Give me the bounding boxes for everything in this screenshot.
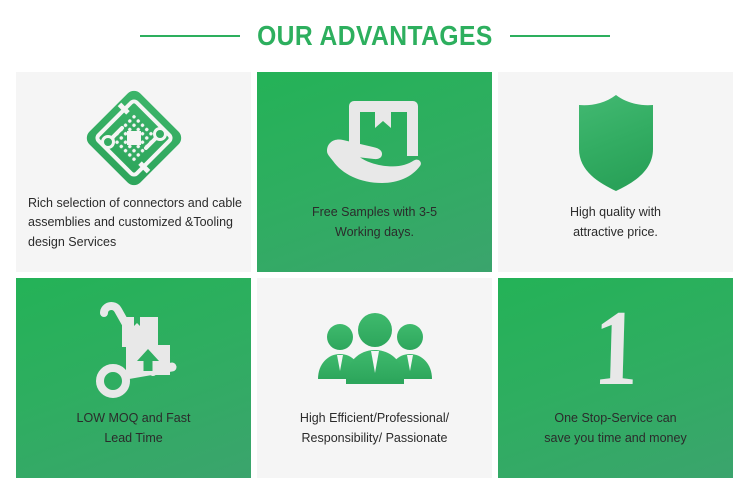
advantage-caption: Free Samples with 3-5 Working days. [257, 203, 492, 272]
advantage-caption: One Stop-Service can save you time and m… [498, 409, 733, 478]
circuit-chip-icon [16, 72, 251, 194]
advantage-card-low-moq[interactable]: LOW MOQ and Fast Lead Time [16, 278, 251, 478]
advantage-card-high-quality[interactable]: High quality with attractive price. [498, 72, 733, 272]
page-header: OUR ADVANTAGES [0, 0, 750, 72]
hand-holding-box-icon [257, 72, 492, 203]
team-group-icon [257, 278, 492, 409]
number-one-glyph: 1 [498, 278, 733, 409]
advantage-card-rich-selection[interactable]: Rich selection of connectors and cable a… [16, 72, 251, 272]
advantage-card-high-efficient[interactable]: High Efficient/Professional/ Responsibil… [257, 278, 492, 478]
advantage-card-one-stop-service[interactable]: 1 One Stop-Service can save you time and… [498, 278, 733, 478]
shield-icon [498, 72, 733, 203]
hand-truck-icon [16, 278, 251, 409]
title-rule-right [510, 35, 610, 37]
advantage-caption: LOW MOQ and Fast Lead Time [16, 409, 251, 478]
advantage-caption: High Efficient/Professional/ Responsibil… [257, 409, 492, 478]
advantage-caption: High quality with attractive price. [498, 203, 733, 272]
advantage-caption: Rich selection of connectors and cable a… [16, 194, 251, 272]
advantages-grid: Rich selection of connectors and cable a… [16, 72, 733, 478]
title-rule-left [140, 35, 240, 37]
advantage-card-free-samples[interactable]: Free Samples with 3-5 Working days. [257, 72, 492, 272]
number-one-text: 1 [592, 295, 639, 403]
page-title: OUR ADVANTAGES [255, 22, 496, 50]
